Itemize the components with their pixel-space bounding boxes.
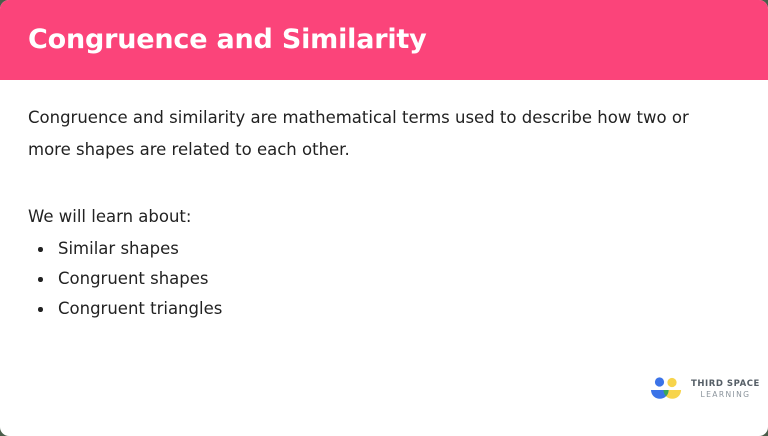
slide-header: Congruence and Similarity: [0, 0, 768, 80]
bullet-icon: [38, 277, 43, 282]
slide-card: Congruence and Similarity Congruence and…: [0, 0, 768, 436]
list-item: Similar shapes: [28, 234, 728, 264]
brand-logo: THIRD SPACE LEARNING: [648, 372, 752, 406]
list-item-label: Congruent triangles: [58, 299, 222, 318]
intro-paragraph: Congruence and similarity are mathematic…: [28, 102, 728, 166]
list-item: Congruent shapes: [28, 264, 728, 294]
two-people-logo-icon: [648, 374, 684, 404]
page-title: Congruence and Similarity: [28, 22, 427, 58]
bullet-icon: [38, 307, 43, 312]
topics-list: Similar shapes Congruent shapes Congruen…: [28, 234, 728, 324]
brand-logo-wordmark: THIRD SPACE LEARNING: [691, 380, 760, 399]
list-item-label: Congruent shapes: [58, 269, 209, 288]
bullet-icon: [38, 247, 43, 252]
brand-logo-line-2: LEARNING: [691, 391, 760, 399]
learn-about-heading: We will learn about:: [28, 204, 728, 230]
list-item-label: Similar shapes: [58, 239, 179, 258]
brand-logo-line-1: THIRD SPACE: [691, 380, 760, 389]
list-item: Congruent triangles: [28, 294, 728, 324]
